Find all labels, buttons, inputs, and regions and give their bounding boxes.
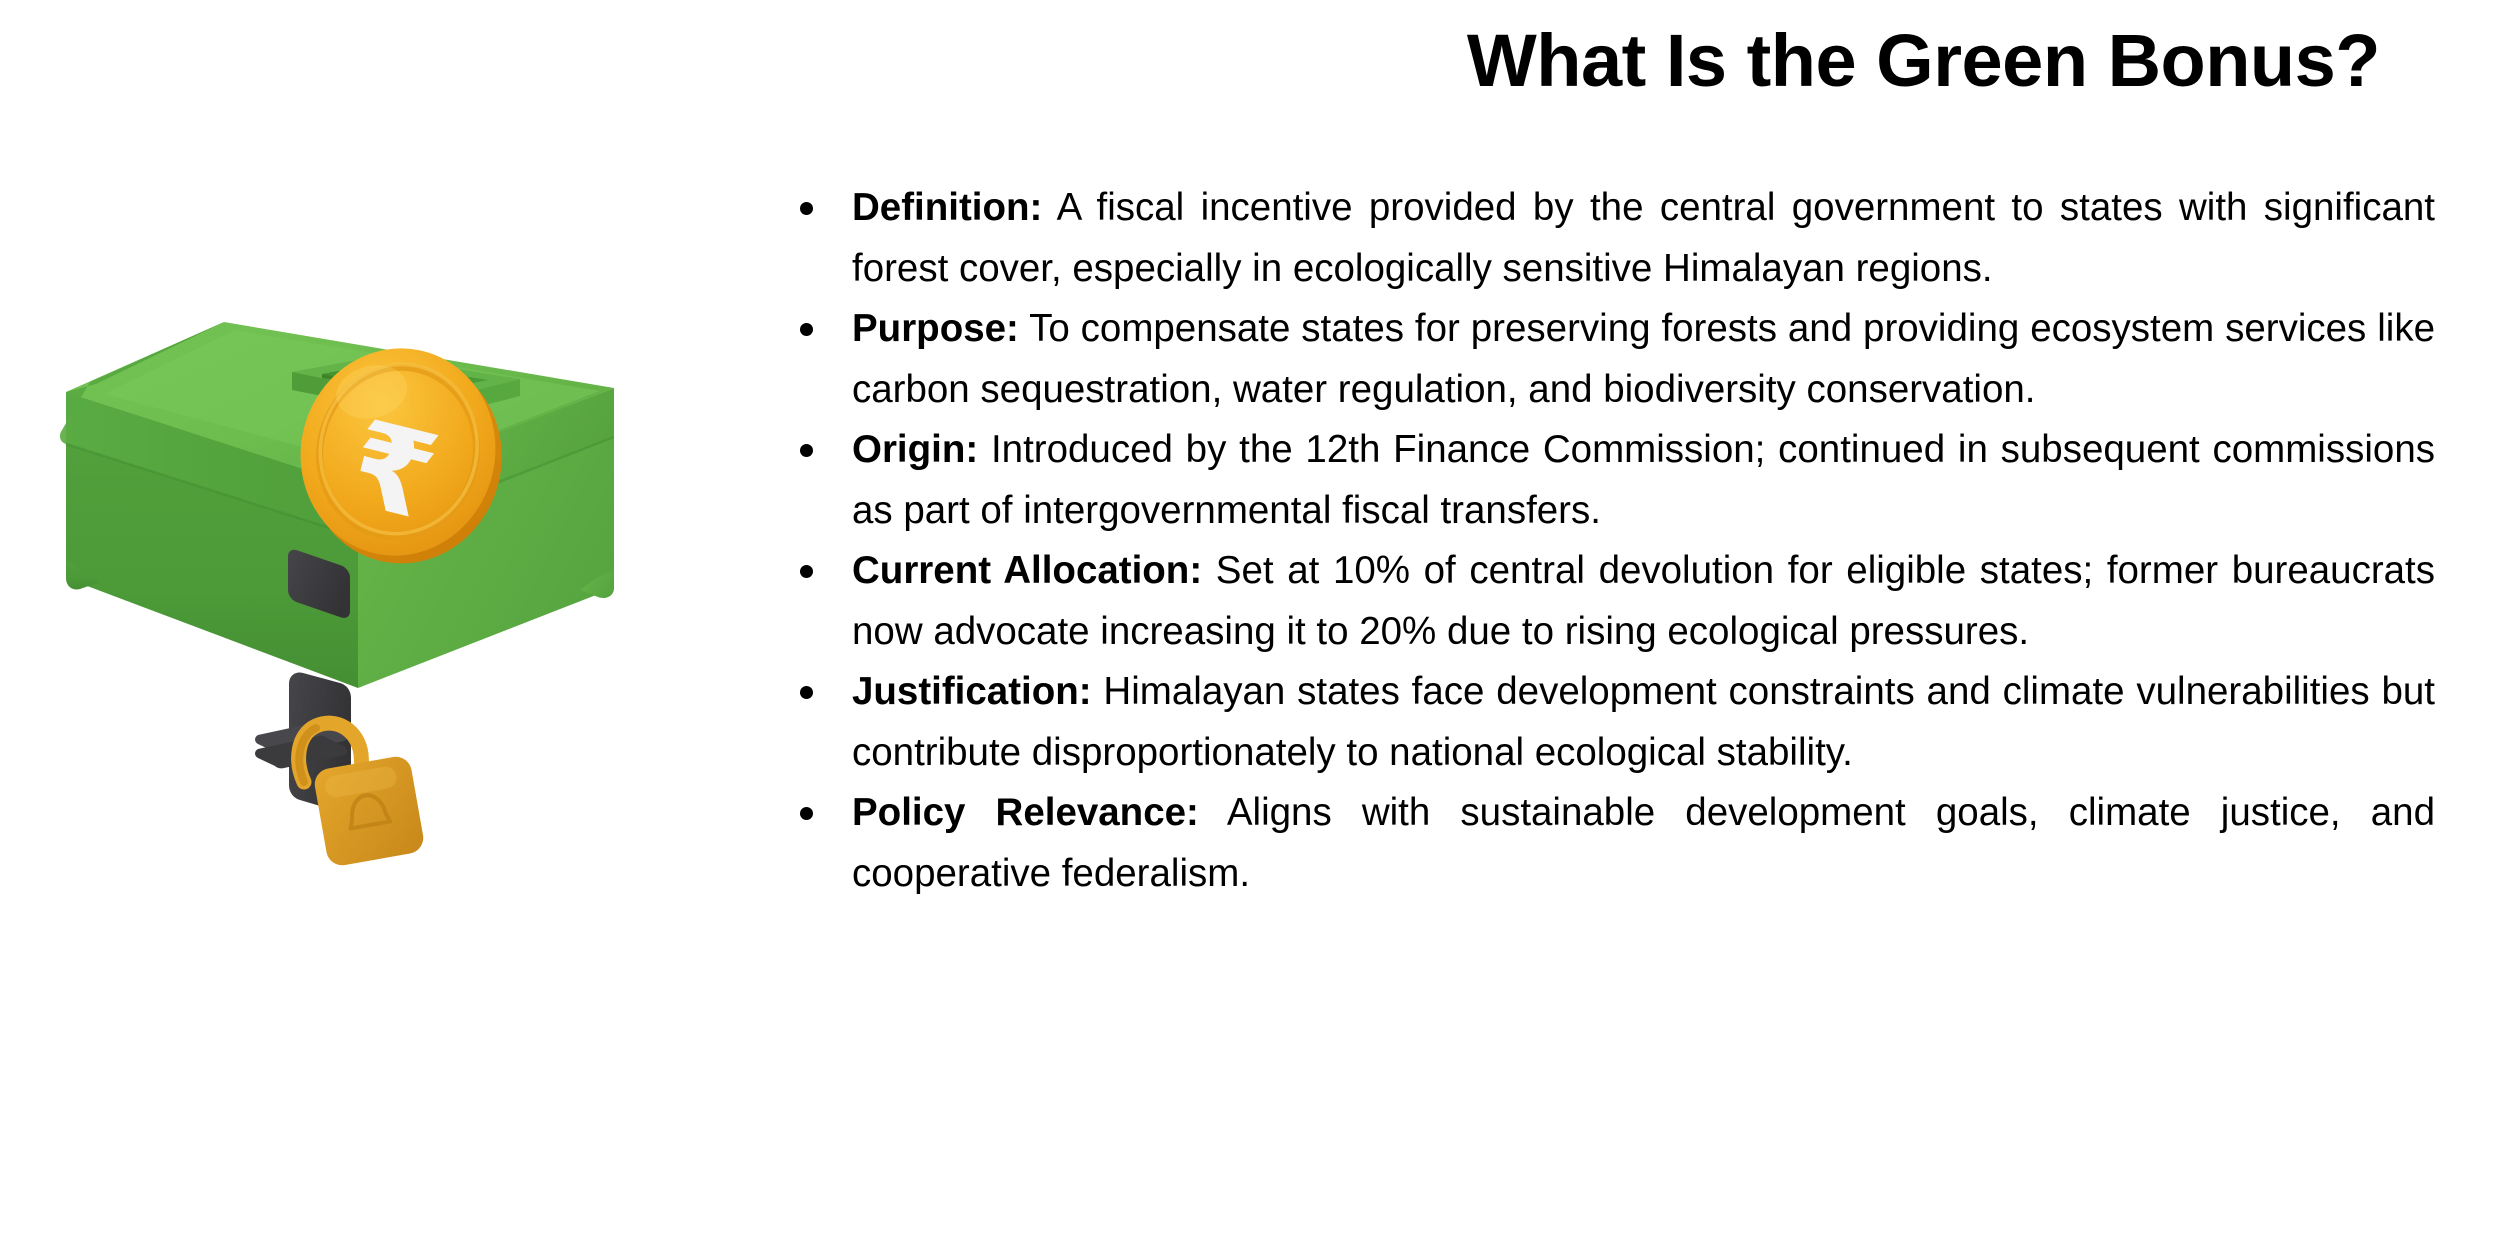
bullet-lead: Definition: xyxy=(852,186,1042,229)
bullet-body: Introduced by the 12th Finance Commissio… xyxy=(852,428,2435,532)
bullet-body: To compensate states for preserving fore… xyxy=(852,307,2435,411)
bullet-body: A fiscal incentive provided by the centr… xyxy=(852,186,2435,290)
bullet-item-purpose: Purpose: To compensate states for preser… xyxy=(790,299,2435,420)
bullet-list: Definition: A fiscal incentive provided … xyxy=(790,178,2435,904)
green-money-box-illustration: ₹ xyxy=(0,0,780,1250)
bullet-item-definition: Definition: A fiscal incentive provided … xyxy=(790,178,2435,299)
bullet-lead: Justification: xyxy=(852,670,1092,713)
slide-root: ₹ What Is the Green Bonus? Definition: A… xyxy=(0,0,2500,1250)
page-title: What Is the Green Bonus? xyxy=(740,22,2380,100)
illustration-pane: ₹ xyxy=(0,0,780,1250)
bullet-lead: Purpose: xyxy=(852,307,1019,350)
bullet-lead: Origin: xyxy=(852,428,978,471)
bullet-item-justification: Justification: Himalayan states face dev… xyxy=(790,662,2435,783)
bullet-lead: Current Allocation: xyxy=(852,549,1202,592)
bullet-item-policy-relevance: Policy Relevance: Aligns with sustainabl… xyxy=(790,783,2435,904)
bullet-item-origin: Origin: Introduced by the 12th Finance C… xyxy=(790,420,2435,541)
bullet-item-current-allocation: Current Allocation: Set at 10% of centra… xyxy=(790,541,2435,662)
content-pane: What Is the Green Bonus? Definition: A f… xyxy=(790,0,2450,1250)
bullet-lead: Policy Relevance: xyxy=(852,791,1199,834)
